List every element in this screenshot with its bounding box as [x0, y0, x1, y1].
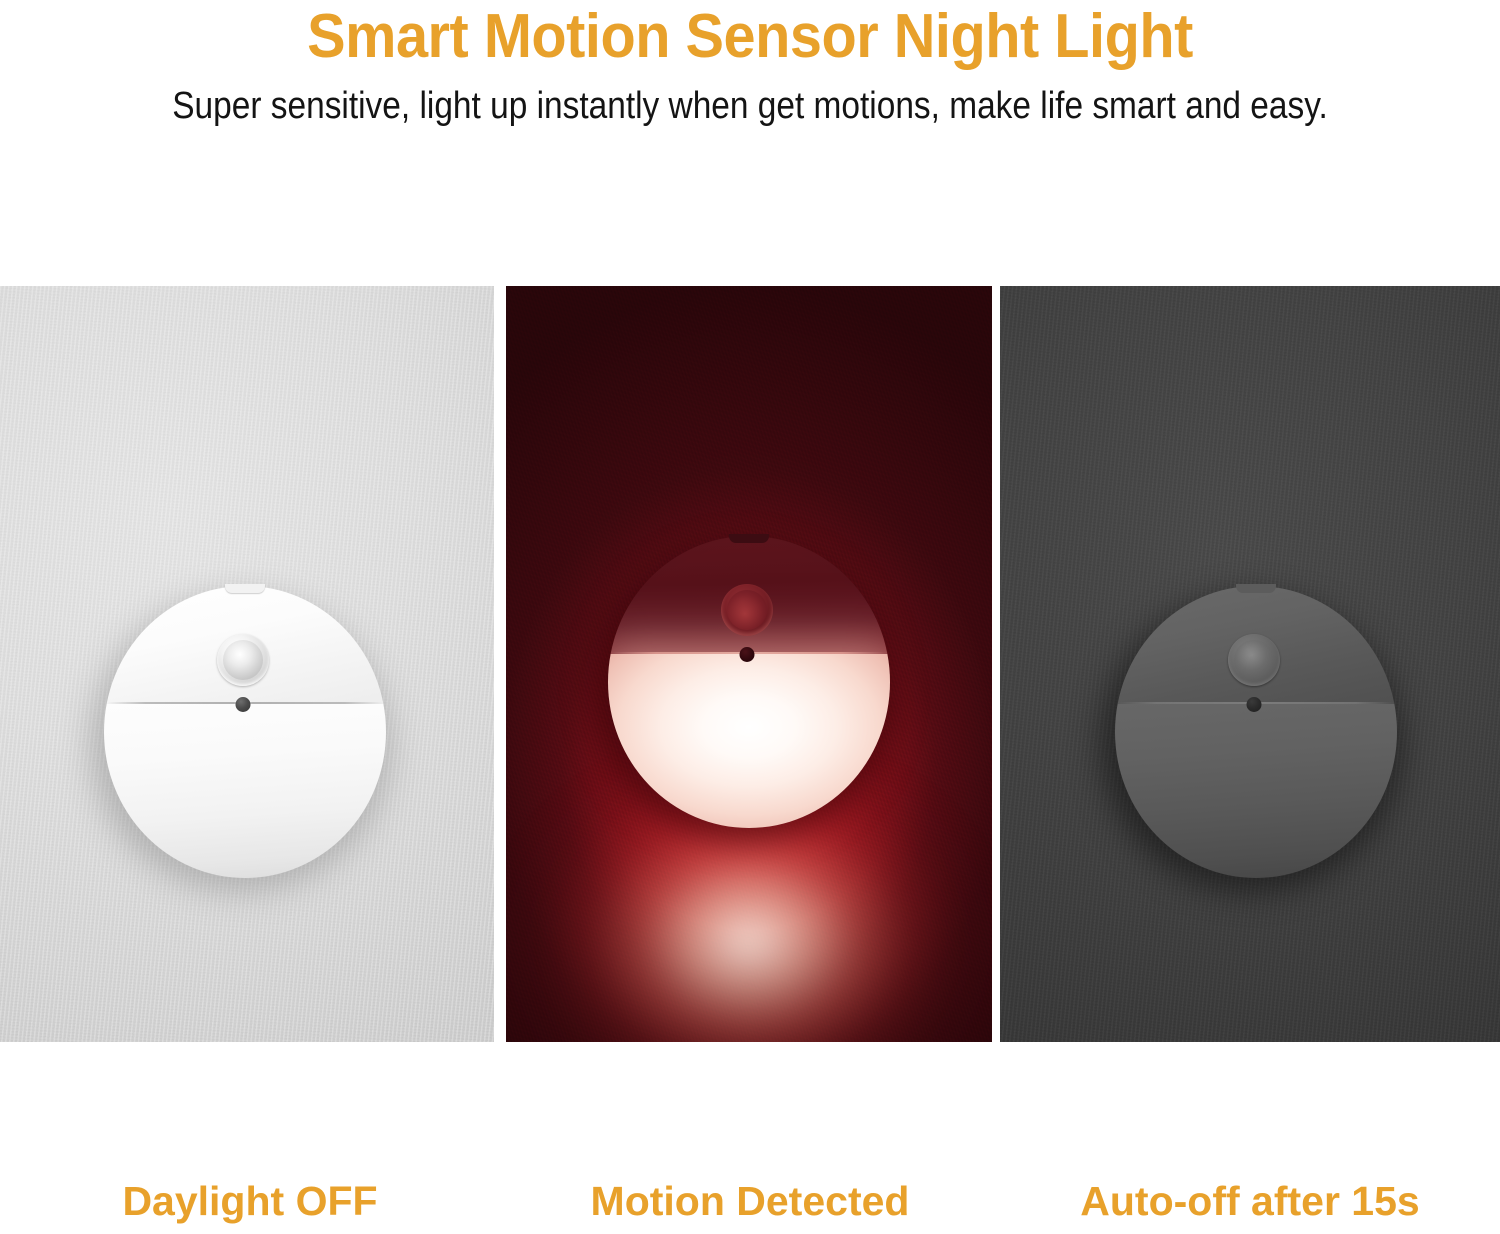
product-feature-panels	[0, 286, 1500, 1042]
device-body	[608, 536, 890, 828]
caption-daylight-off: Daylight OFF	[122, 1178, 377, 1224]
device-body	[1115, 586, 1397, 878]
panel-captions: Daylight OFF Motion Detected Auto-off af…	[0, 1168, 1500, 1234]
ambient-light-sensor-icon	[236, 697, 251, 712]
device-body	[104, 586, 386, 878]
pir-lens-inner	[223, 640, 263, 680]
page-title: Smart Motion Sensor Night Light	[53, 4, 1448, 70]
caption-motion-detected: Motion Detected	[591, 1178, 910, 1224]
panel-motion-detected	[506, 286, 992, 1042]
night-light-device-dark	[1115, 586, 1397, 878]
device-diffuser-lens	[104, 704, 386, 878]
device-diffuser-lens	[1115, 704, 1397, 878]
caption-auto-off: Auto-off after 15s	[1080, 1178, 1419, 1224]
page-subtitle: Super sensitive, light up instantly when…	[90, 84, 1410, 128]
device-top-tab	[729, 534, 769, 543]
device-diffuser-lens-illuminated	[608, 654, 890, 828]
caption-cell-daylight-off: Daylight OFF	[0, 1168, 500, 1234]
pir-dome-icon	[721, 584, 773, 636]
ambient-light-sensor-icon	[740, 647, 755, 662]
caption-cell-motion-detected: Motion Detected	[500, 1168, 1000, 1234]
device-top-tab	[1236, 584, 1276, 593]
pir-dome-icon	[217, 634, 269, 686]
pir-dome-icon	[1228, 634, 1280, 686]
ambient-light-sensor-icon	[1247, 697, 1262, 712]
pir-lens-inner	[1234, 640, 1274, 680]
device-top-tab	[225, 584, 265, 593]
night-light-device-off	[104, 586, 386, 878]
pir-lens-inner	[727, 590, 767, 630]
panel-daylight-off	[0, 286, 494, 1042]
panel-auto-off	[1000, 286, 1500, 1042]
caption-cell-auto-off: Auto-off after 15s	[1000, 1168, 1500, 1234]
night-light-device-lit	[608, 536, 890, 828]
header: Smart Motion Sensor Night Light Super se…	[0, 0, 1500, 128]
